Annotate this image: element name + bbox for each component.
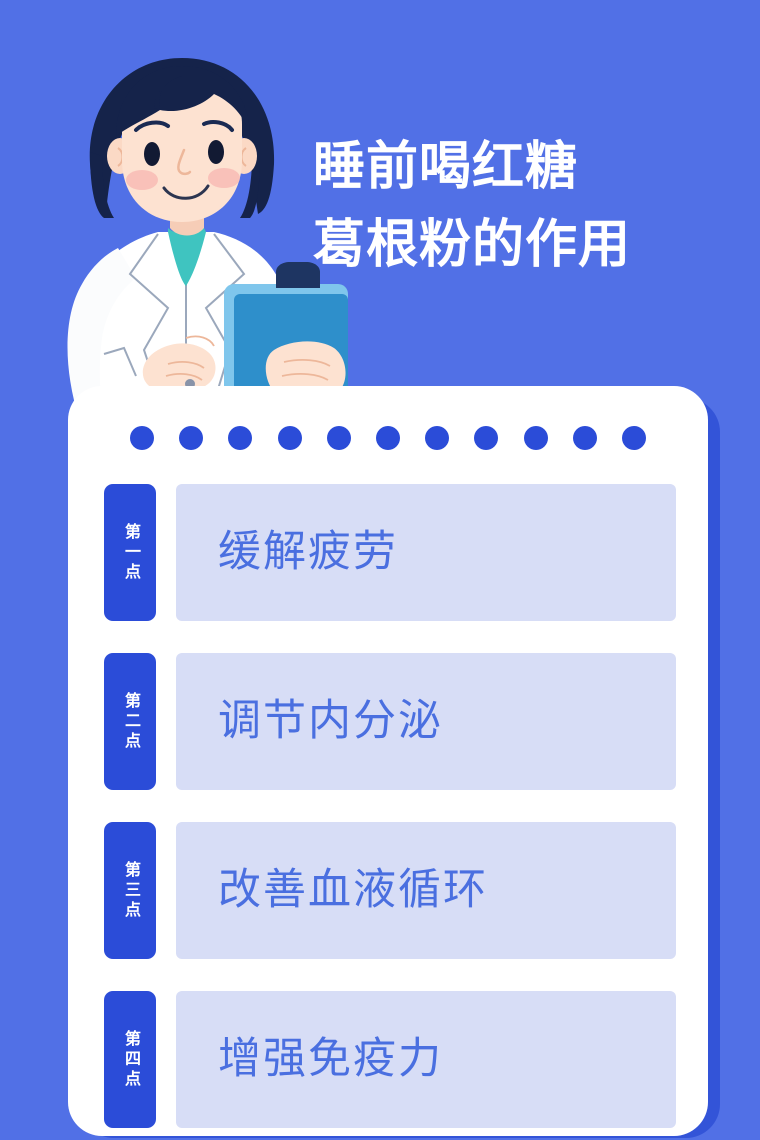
item-index-badge: 第二点: [104, 653, 156, 790]
item-label: 改善血液循环: [218, 867, 488, 914]
binder-dot: [278, 426, 302, 450]
item-content-box: 增强免疫力: [176, 991, 676, 1128]
doctor-illustration: [18, 32, 348, 422]
binder-dot: [179, 426, 203, 450]
list-item[interactable]: 第一点缓解疲劳: [104, 484, 676, 621]
benefits-list: 第一点缓解疲劳第二点调节内分泌第三点改善血液循环第四点增强免疫力: [104, 484, 676, 1136]
item-content-box: 改善血液循环: [176, 822, 676, 959]
item-label: 增强免疫力: [218, 1036, 443, 1083]
item-index-badge: 第四点: [104, 991, 156, 1128]
list-item[interactable]: 第二点调节内分泌: [104, 653, 676, 790]
list-item[interactable]: 第四点增强免疫力: [104, 991, 676, 1128]
page-title: 睡前喝红糖 葛根粉的作用: [313, 128, 713, 284]
item-label: 缓解疲劳: [218, 529, 398, 576]
binder-dot: [130, 426, 154, 450]
binder-dot: [228, 426, 252, 450]
binder-dot: [376, 426, 400, 450]
title-line-2: 葛根粉的作用: [313, 206, 713, 284]
title-line-1: 睡前喝红糖: [313, 128, 713, 206]
item-label: 调节内分泌: [218, 698, 443, 745]
binder-dot: [425, 426, 449, 450]
item-index-badge: 第三点: [104, 822, 156, 959]
binder-dot: [474, 426, 498, 450]
dot-row: [68, 426, 708, 450]
item-index-badge: 第一点: [104, 484, 156, 621]
binder-dot: [573, 426, 597, 450]
binder-dot: [622, 426, 646, 450]
binder-dot: [327, 426, 351, 450]
content-card: 第一点缓解疲劳第二点调节内分泌第三点改善血液循环第四点增强免疫力: [68, 386, 708, 1136]
list-item[interactable]: 第三点改善血液循环: [104, 822, 676, 959]
binder-dot: [524, 426, 548, 450]
item-content-box: 调节内分泌: [176, 653, 676, 790]
item-content-box: 缓解疲劳: [176, 484, 676, 621]
